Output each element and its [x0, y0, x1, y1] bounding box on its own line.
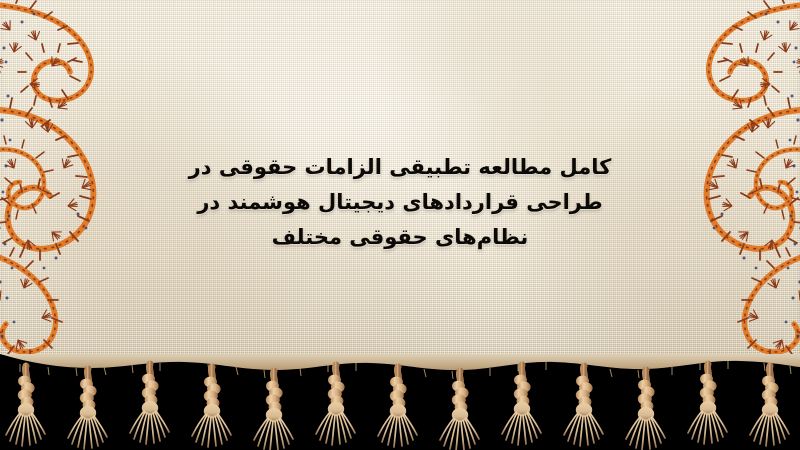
slide-title: کامل مطالعه تطبیقی الزامات حقوقی در طراح…	[0, 150, 800, 255]
title-line-3: نظام‌های حقوقی مختلف	[0, 220, 800, 255]
slide-canvas: کامل مطالعه تطبیقی الزامات حقوقی در طراح…	[0, 0, 800, 450]
title-line-2: طراحی قراردادهای دیجیتال هوشمند در	[0, 185, 800, 220]
knotted-tassel-fringe	[0, 354, 800, 450]
title-line-1: کامل مطالعه تطبیقی الزامات حقوقی در	[0, 150, 800, 185]
